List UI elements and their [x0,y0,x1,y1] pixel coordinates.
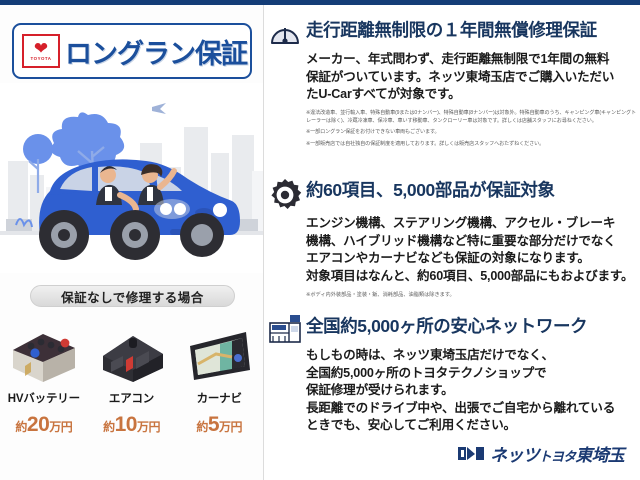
section-body: メーカー、年式問わず、走行距離無制限で1年間の無料 保証がついています。ネッツ東… [306,48,640,104]
part-label: HVバッテリー [8,390,80,406]
wheel [110,210,160,260]
toyota-wordmark: TOYOTA [31,56,52,62]
price-number: 10 [115,413,137,436]
fine-print-line: ※違法改造車、並行輸入車、特殊自動車(9または0ナンバー)、特殊自動車(8ナンバ… [306,109,640,126]
body-line: エンジン機構、ステアリング機構、アクセル・ブレーキ [306,215,640,233]
part-price: 約5万円 [196,413,242,437]
section-title: 走行距離無制限の１年間無償修理保証 [306,17,597,41]
section-body: エンジン機構、ステアリング機構、アクセル・ブレーキ 機構、ハイブリッド機構など特… [306,212,640,285]
car-illustration-svg [0,83,263,273]
section-nationwide-network: 全国約5,000ヶ所の安心ネットワーク もしもの時は、ネッツ東埼玉店だけでなく、… [264,313,640,435]
air-conditioner-icon [93,320,171,382]
body-line: 全国約5,000ヶ所のトヨタテクノショップで [306,365,640,383]
car-navigation-icon [180,320,258,382]
list-item: エアコン 約10万円 [88,320,176,445]
hv-battery-icon [5,320,83,382]
body-line: ときでも、安心してご利用ください。 [306,417,640,435]
body-line: メーカー、年式問わず、走行距離無制限で1年間の無料 [306,51,640,69]
part-label: カーナビ [197,390,242,406]
wheel [39,210,89,260]
fine-print-line: ※一部ロングラン保証をお付けできない車両もございます。 [306,128,640,136]
speedometer-icon [264,17,306,48]
longrun-warranty-label: ロングラン保証 [65,32,247,71]
section-body: もしもの時は、ネッツ東埼玉店だけでなく、 全国約5,000ヶ所のトヨタテクノショ… [306,344,640,435]
section-fine-print: ※ボディ内外装部品・塗装・鈑、消耗部品、油脂類は除きます。 [306,285,640,300]
section-mileage-warranty: 走行距離無制限の１年間無償修理保証 メーカー、年式問わず、走行距離無制限で1年間… [264,17,640,151]
part-price: 約10万円 [103,413,160,437]
body-line: 保証修理が受けられます。 [306,382,640,400]
car-illustration [0,83,263,273]
body-line: 保証がついています。ネッツ東埼玉店でご購入いただい [306,69,640,87]
price-number: 5 [208,413,219,436]
price-suffix: 万円 [137,420,160,434]
list-item: HVバッテリー 約20万円 [0,320,88,445]
body-line: 長距離でのドライブ中や、出張でご自宅から離れている [306,400,640,418]
no-warranty-banner: 保証なしで修理する場合 [30,285,235,307]
wheel [180,213,224,257]
body-line: エアコンやカーナビなども保証の対象になります。 [306,250,640,268]
heart-icon: ❤ [34,41,48,56]
dealer-logo: ネッツトヨタ東埼玉 [458,441,624,466]
fine-print-line: ※一部販売店では自社独自の保証制度を適用しております。詳しくは販売店スタッフへお… [306,140,640,148]
body-line: たU-Carすべてが対象です。 [306,86,640,104]
part-price: 約20万円 [15,413,72,437]
advertisement-page: ❤ TOYOTA ロングラン保証 [0,0,640,480]
toyota-heart-icon: ❤ TOYOTA [22,34,60,68]
price-prefix: 約 [196,420,208,434]
dealership-building-icon [264,313,306,344]
part-label: エアコン [109,390,154,406]
list-item: カーナビ 約5万円 [175,320,263,445]
left-panel: ❤ TOYOTA ロングラン保証 [0,5,263,480]
price-prefix: 約 [15,420,27,434]
body-line: もしもの時は、ネッツ東埼玉店だけでなく、 [306,347,640,365]
dealer-name: ネッツトヨタ東埼玉 [490,441,624,466]
section-title: 全国約5,000ヶ所の安心ネットワーク [306,313,587,337]
dealer-name-main: ネッツ [490,446,539,465]
netz-n-icon [458,445,484,462]
dealer-name-end: 東埼玉 [575,446,624,465]
right-panel: 走行距離無制限の１年間無償修理保証 メーカー、年式問わず、走行距離無制限で1年間… [264,5,640,480]
dealer-name-mid: トヨタ [539,449,576,464]
price-number: 20 [27,413,49,436]
section-covered-parts: 約60項目、5,000部品が保証対象 エンジン機構、ステアリング機構、アクセル・… [264,177,640,300]
gear-icon [264,177,306,212]
section-title: 約60項目、5,000部品が保証対象 [306,177,555,201]
body-line: 対象項目はなんと、約60項目、5,000部品にもおよびます。 [306,268,640,286]
price-suffix: 万円 [219,420,242,434]
price-prefix: 約 [103,420,115,434]
repair-cost-list: HVバッテリー 約20万円 エアコン 約10万円 [0,320,263,445]
price-suffix: 万円 [49,420,72,434]
body-line: 機構、ハイブリッド機構など特に重要な部分だけでなく [306,233,640,251]
longrun-warranty-logo: ❤ TOYOTA ロングラン保証 [12,23,252,79]
section-fine-print: ※違法改造車、並行輸入車、特殊自動車(9または0ナンバー)、特殊自動車(8ナンバ… [306,104,640,149]
